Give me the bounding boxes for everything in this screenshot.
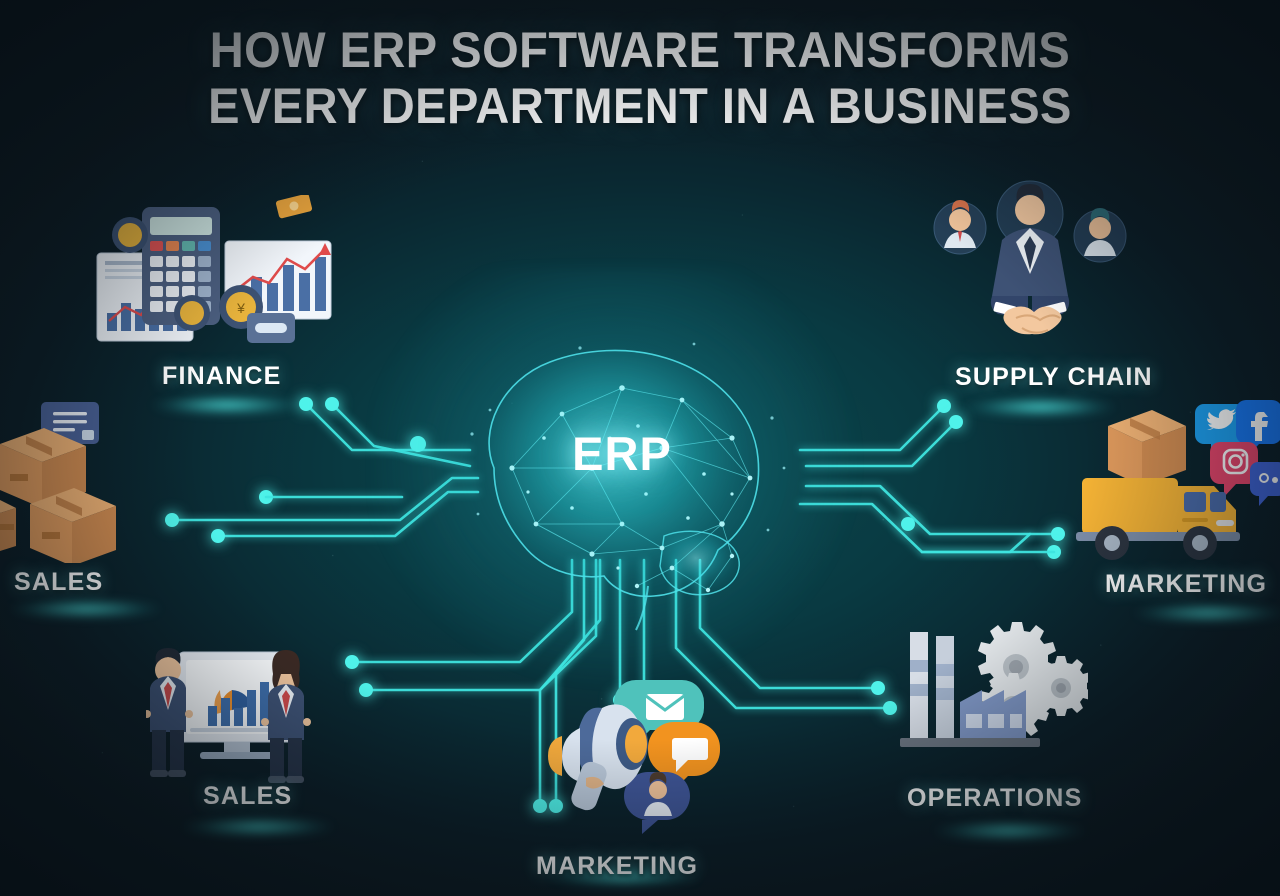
marketing-right-icon-group <box>1068 400 1280 570</box>
dept-label-marketing-right: MARKETING <box>1105 570 1267 599</box>
person-icon <box>624 772 690 834</box>
marketing-right-glow <box>1135 604 1280 622</box>
marketing-bottom-icon-group <box>524 676 724 836</box>
operations-glow <box>935 822 1085 840</box>
dept-label-sales-bottom: SALES <box>203 782 292 811</box>
handshake-people-icon <box>930 178 1130 338</box>
chat-icon <box>1250 462 1280 506</box>
supply-chain-icon-group <box>930 178 1130 338</box>
sales-bottom-glow <box>183 818 333 836</box>
business-people-dashboard-icon <box>146 636 346 786</box>
dept-label-operations: OPERATIONS <box>907 784 1082 813</box>
delivery-truck-social-icon <box>1068 400 1280 570</box>
operations-icon-group <box>898 620 1088 775</box>
sales-bottom-icon-group <box>146 636 346 786</box>
erp-brain: ERP <box>432 318 812 648</box>
brain-glow <box>372 268 872 698</box>
center-label: ERP <box>432 426 812 481</box>
dept-label-finance: FINANCE <box>162 362 282 391</box>
dept-label-supply-chain: SUPPLY CHAIN <box>955 363 1153 392</box>
factory-gears-icon <box>898 620 1088 775</box>
finance-icon-group: ¥ <box>95 195 345 360</box>
megaphone-icon <box>524 676 724 836</box>
dept-label-sales-left: SALES <box>14 568 103 597</box>
calculator-charts-icon: ¥ <box>95 195 345 360</box>
svg-text:¥: ¥ <box>236 300 245 316</box>
sales-left-icon-group <box>0 398 146 563</box>
sales-left-glow <box>10 600 160 618</box>
finance-glow <box>152 396 302 414</box>
dept-label-marketing-bottom: MARKETING <box>536 852 698 881</box>
parcel-boxes-icon <box>0 398 146 563</box>
infographic-canvas: HOW ERP SOFTWARE TRANSFORMS EVERY DEPART… <box>0 0 1280 896</box>
